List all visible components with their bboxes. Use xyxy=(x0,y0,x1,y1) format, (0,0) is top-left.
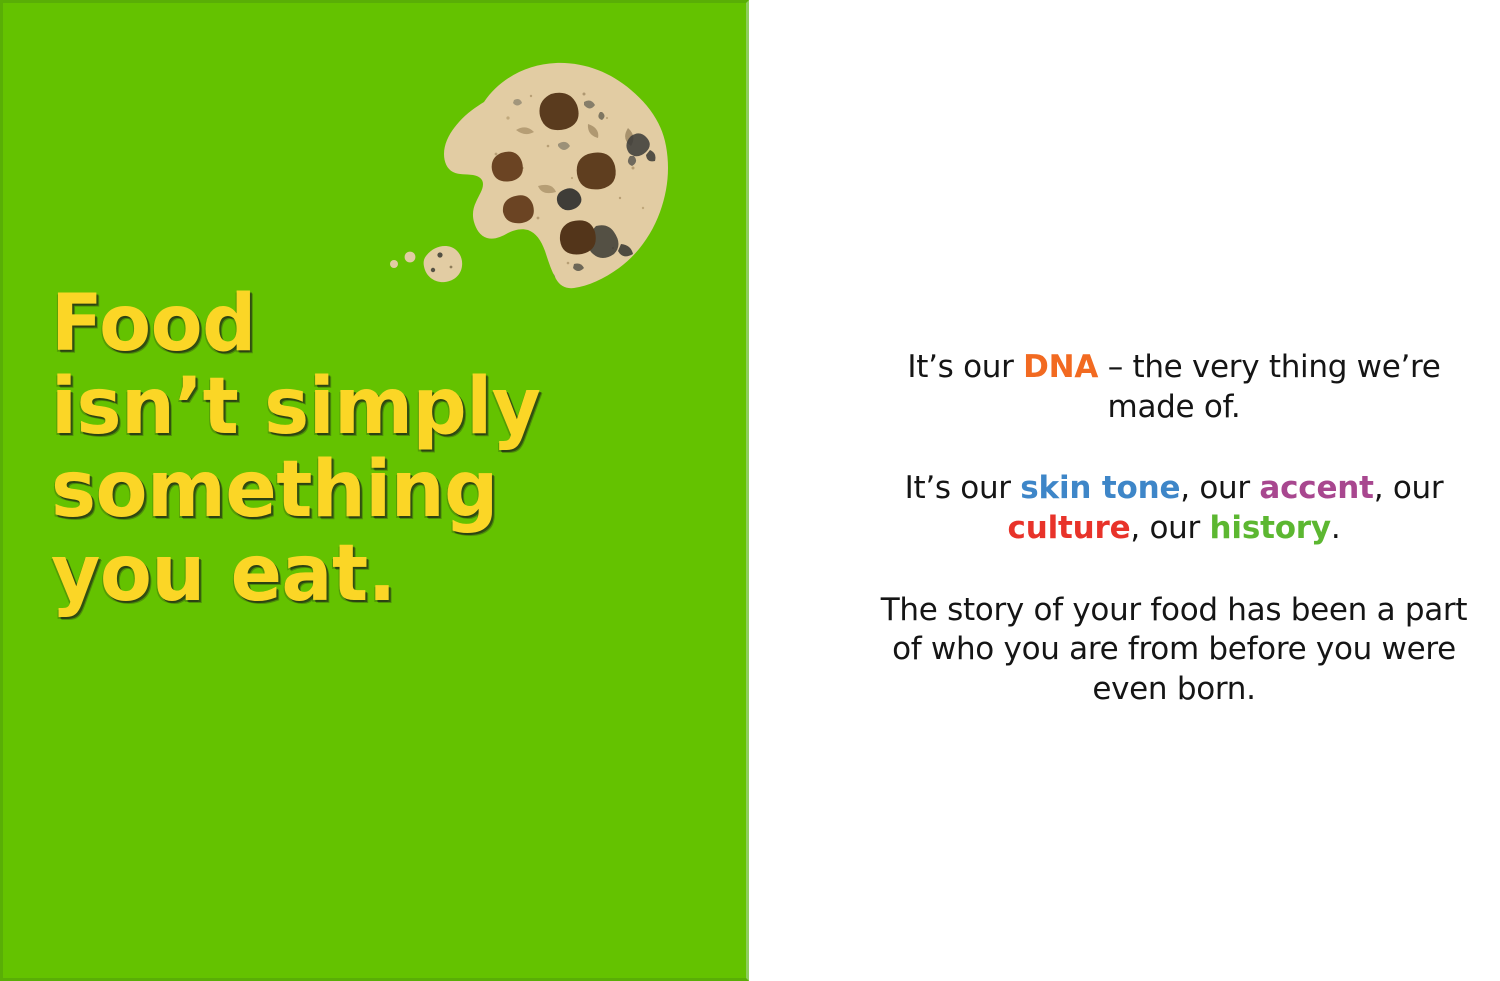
text-segment: – the very thing we’re made of. xyxy=(1098,349,1440,425)
headline-line-4: you eat. xyxy=(51,536,682,613)
text-segment: It’s our xyxy=(905,470,1021,506)
left-green-panel: Food isn’t simply something you eat. xyxy=(0,0,749,981)
text-segment: It’s our xyxy=(907,349,1023,385)
text-segment: . xyxy=(1331,510,1341,546)
headline-line-2: isn’t simply xyxy=(51,369,682,446)
text-segment: The story of your food has been a part o… xyxy=(881,592,1467,707)
headline: Food isn’t simply something you eat. xyxy=(51,286,701,619)
highlight-dna: DNA xyxy=(1023,349,1098,385)
headline-line-1: Food xyxy=(51,286,682,363)
paragraph-dna: It’s our DNA – the very thing we’re made… xyxy=(874,348,1474,427)
cookie-illustration xyxy=(388,58,698,308)
headline-line-3: something xyxy=(51,452,682,529)
cookie-body xyxy=(444,63,668,288)
book-spread-page: Food isn’t simply something you eat. It’… xyxy=(0,0,1500,981)
paragraph-story: The story of your food has been a part o… xyxy=(874,591,1474,710)
text-segment: , our xyxy=(1374,470,1444,506)
body-copy: It’s our DNA – the very thing we’re made… xyxy=(874,348,1474,710)
cookie-crumbs xyxy=(390,246,462,282)
paragraph-identity: It’s our skin tone, our accent, our cult… xyxy=(874,469,1474,548)
text-segment: , our xyxy=(1130,510,1209,546)
right-white-panel: It’s our DNA – the very thing we’re made… xyxy=(749,0,1500,981)
highlight-accent: accent xyxy=(1259,470,1373,506)
highlight-history: history xyxy=(1210,510,1331,546)
text-segment: , our xyxy=(1180,470,1259,506)
highlight-culture: culture xyxy=(1008,510,1131,546)
highlight-skin-tone: skin tone xyxy=(1020,470,1180,506)
